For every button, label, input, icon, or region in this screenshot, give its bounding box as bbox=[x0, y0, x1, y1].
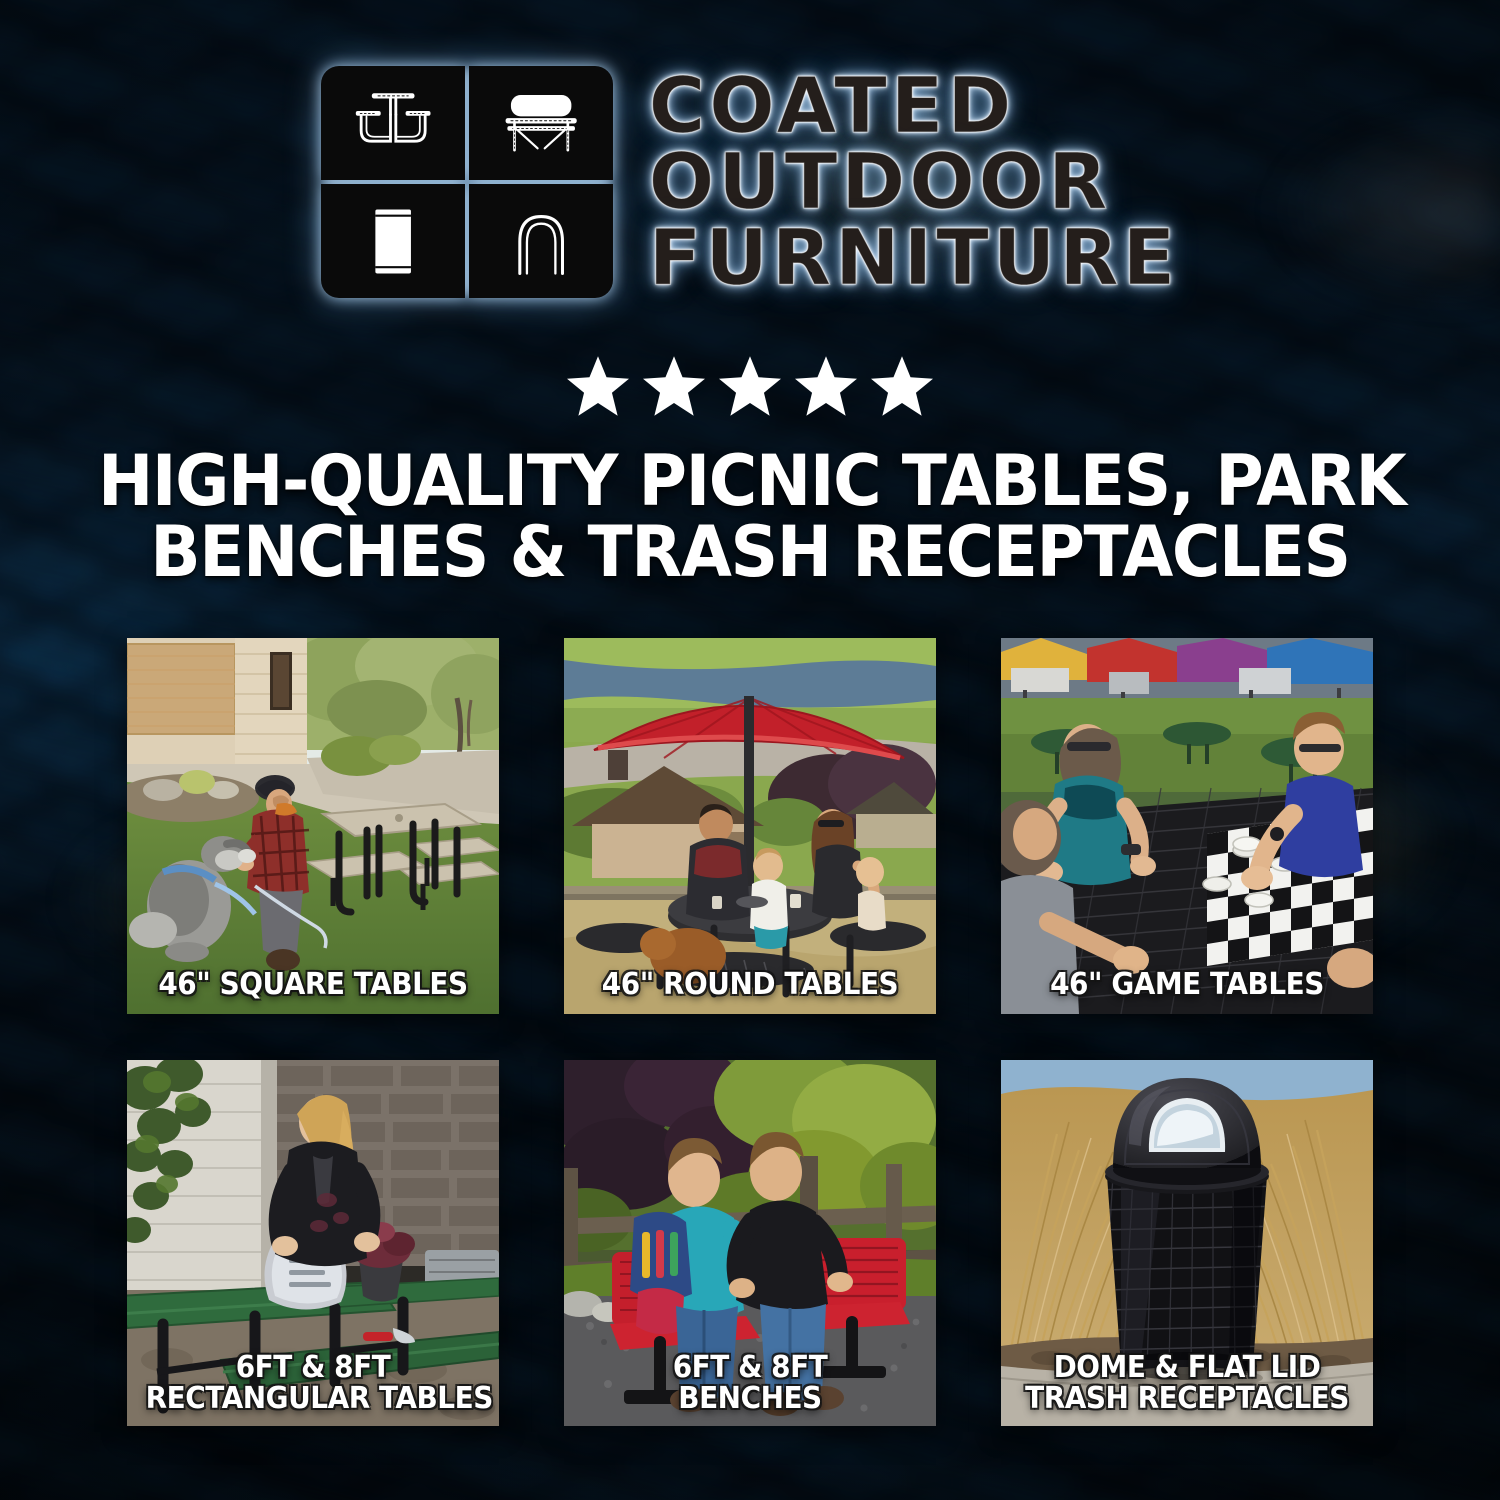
product-photo-game-tables bbox=[1001, 638, 1373, 1014]
product-card-rectangular-tables[interactable]: 6FT & 8FT RECTANGULAR TABLES bbox=[127, 1060, 499, 1426]
star-icon bbox=[567, 356, 629, 416]
product-caption-game-tables: 46" GAME TABLES bbox=[1020, 969, 1355, 1000]
product-card-benches[interactable]: 6FT & 8FT BENCHES bbox=[564, 1060, 936, 1426]
product-card-trash-receptacles[interactable]: DOME & FLAT LID TRASH RECEPTACLES bbox=[1001, 1060, 1373, 1426]
page-title: HIGH-QUALITY PICNIC TABLES, PARK BENCHES… bbox=[98, 446, 1402, 589]
product-card-round-tables[interactable]: 46" ROUND TABLES bbox=[564, 638, 936, 1014]
brand-logo: COATED OUTDOOR FURNITURE bbox=[0, 66, 1500, 298]
star-icon bbox=[795, 356, 857, 416]
bike-rack-icon bbox=[469, 184, 613, 298]
poster-canvas: COATED OUTDOOR FURNITURE HIGH-QUALITY PI… bbox=[0, 0, 1500, 1500]
star-icon bbox=[719, 356, 781, 416]
product-caption-square-tables: 46" SQUARE TABLES bbox=[146, 969, 481, 1000]
star-icon bbox=[871, 356, 933, 416]
picnic-table-icon bbox=[321, 66, 465, 180]
product-card-square-tables[interactable]: 46" SQUARE TABLES bbox=[127, 638, 499, 1014]
product-card-game-tables[interactable]: 46" GAME TABLES bbox=[1001, 638, 1373, 1014]
logo-icon-grid bbox=[321, 66, 613, 298]
product-grid: 46" SQUARE TABLES bbox=[127, 638, 1373, 1426]
brand-wordmark: COATED OUTDOOR FURNITURE bbox=[649, 66, 1179, 296]
brand-name-line-1: COATED bbox=[649, 70, 1179, 144]
park-bench-icon bbox=[469, 66, 613, 180]
brand-name-line-3: FURNITURE bbox=[649, 222, 1179, 296]
product-caption-trash-receptacles: DOME & FLAT LID TRASH RECEPTACLES bbox=[1020, 1352, 1355, 1414]
product-caption-round-tables: 46" ROUND TABLES bbox=[583, 969, 918, 1000]
headline-line-1: HIGH-QUALITY PICNIC TABLES, PARK bbox=[98, 446, 1402, 517]
star-icon bbox=[643, 356, 705, 416]
product-photo-square-tables bbox=[127, 638, 499, 1014]
product-caption-benches: 6FT & 8FT BENCHES bbox=[583, 1352, 918, 1414]
trash-receptacle-icon bbox=[321, 184, 465, 298]
product-photo-round-tables bbox=[564, 638, 936, 1014]
brand-name-line-2: OUTDOOR bbox=[649, 146, 1179, 220]
star-rating bbox=[0, 356, 1500, 416]
product-caption-rectangular-tables: 6FT & 8FT RECTANGULAR TABLES bbox=[146, 1352, 481, 1414]
headline-line-2: BENCHES & TRASH RECEPTACLES bbox=[98, 517, 1402, 588]
